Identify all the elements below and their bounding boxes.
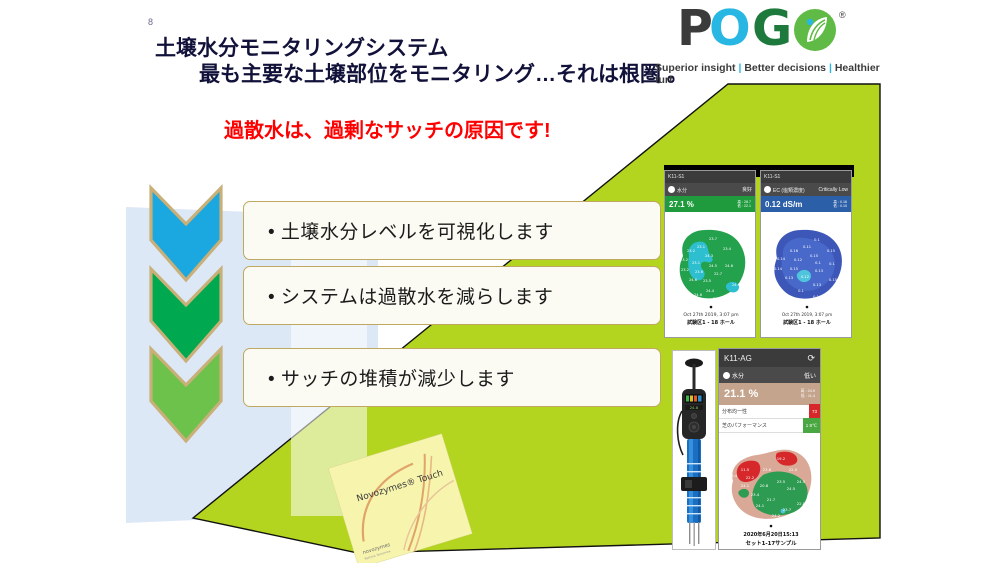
- panel-metric-row-moisture: 水分 良好: [665, 183, 755, 196]
- svg-text:23.2: 23.2: [687, 249, 695, 253]
- station-id-ag: K11-AG: [724, 354, 752, 363]
- svg-text:24.5: 24.5: [709, 264, 717, 268]
- svg-text:23.5: 23.5: [703, 279, 711, 283]
- svg-text:0.1: 0.1: [813, 295, 819, 299]
- novozymes-brochure: Novozymes® Touch novozymes Rethink Tomor…: [318, 430, 488, 563]
- svg-text:24.6: 24.6: [694, 293, 703, 297]
- metric-label-moisture: 水分: [668, 185, 687, 194]
- caption-moisture: 試験区1 - 18 ホール: [687, 319, 735, 326]
- svg-text:24.2: 24.2: [772, 513, 781, 518]
- svg-text:20.8: 20.8: [760, 483, 769, 488]
- timestamp-ec: Oct 27th 2019, 3:07 pm: [782, 312, 832, 317]
- timestamp-moisture: Oct 27th 2019, 3:07 pm: [683, 312, 739, 318]
- svg-text:24.1: 24.1: [741, 483, 750, 488]
- turf-performance-row[interactable]: 芝のパフォーマンス 1 8℃: [719, 419, 820, 433]
- svg-text:23.1: 23.1: [697, 245, 705, 249]
- svg-text:11.5: 11.5: [741, 467, 750, 472]
- uniformity-badge: 73: [809, 404, 820, 419]
- moisture-heatmap: 23.723.123.4 23.224.323.2 23.124.524.6 2…: [665, 212, 756, 328]
- svg-text:0.1: 0.1: [815, 261, 821, 265]
- svg-text:23.7: 23.7: [709, 237, 717, 241]
- svg-text:0.12: 0.12: [801, 275, 809, 279]
- svg-text:22.8: 22.8: [797, 501, 806, 506]
- svg-text:23.1: 23.1: [692, 261, 700, 265]
- logo-letter-p: P: [677, 6, 713, 52]
- ec-heatmap: 0.10.110.16 0.150.150.14 0.120.10.1 0.14…: [761, 212, 852, 328]
- status-badge-ec: Critically Low: [819, 187, 848, 193]
- panel-metric-row-ag: 水分 低い: [719, 367, 820, 383]
- metric-label-ec: EC (塩類濃度): [764, 185, 805, 194]
- svg-text:23.4: 23.4: [723, 247, 732, 251]
- svg-text:24.1: 24.1: [756, 503, 765, 508]
- svg-text:0.14: 0.14: [777, 257, 786, 261]
- bullet-text-2: • システムは過散水を減らします: [244, 282, 553, 309]
- svg-text:0.13: 0.13: [813, 283, 821, 287]
- metric-range-moisture: 高 : 28.7 低 : 22.1: [737, 200, 751, 209]
- page-subtitle: 過散水は、過剰なサッチの原因です!: [224, 114, 551, 143]
- svg-text:23.4: 23.4: [751, 492, 760, 497]
- chevron-arrow-3: [147, 345, 225, 445]
- app-screenshot-ag[interactable]: K11-AG ⟳ 水分 低い 21.1 % 高 : 24.9 低 : 11.4 …: [718, 348, 821, 550]
- page-title-line1: 土壌水分モニタリングシステム: [155, 36, 675, 62]
- svg-text:24.5: 24.5: [797, 479, 806, 484]
- svg-text:19.2: 19.2: [777, 456, 786, 461]
- ag-heatmap: 19.211.513.4 23.622.023.5 24.524.120.8 2…: [719, 433, 821, 549]
- svg-text:22.7: 22.7: [713, 297, 721, 301]
- panel-metric-row-ec: EC (塩類濃度) Critically Low: [761, 183, 851, 196]
- svg-text:0.15: 0.15: [829, 278, 837, 282]
- metric-value-ag: 21.1 %: [724, 388, 758, 400]
- title-block: 土壌水分モニタリングシステム 最も主要な土壌部位をモニタリング…それは根圏 。: [155, 36, 675, 88]
- bullet-box-1: • 土壌水分レベルを可視化します: [243, 201, 661, 260]
- registered-mark: ®: [839, 10, 846, 20]
- station-id-ec: K11-S1: [764, 174, 780, 180]
- svg-text:24.4: 24.4: [706, 289, 715, 293]
- metric-range-ag: 高 : 24.9 低 : 11.4: [801, 389, 815, 399]
- svg-text:0.1: 0.1: [798, 289, 804, 293]
- slide-canvas: 8 土壌水分モニタリングシステム 最も主要な土壌部位をモニタリング…それは根圏 …: [0, 0, 1000, 563]
- svg-text:24.4: 24.4: [732, 283, 741, 287]
- bullet-text-3: • サッチの堆積が減少します: [244, 364, 515, 391]
- svg-text:0.1: 0.1: [814, 238, 820, 242]
- tagline-part-2: Better decisions: [744, 62, 826, 74]
- metric-range-ec: 高 : 0.16 低 : 0.10: [833, 200, 847, 209]
- metric-value-row-moisture: 27.1 % 高 : 28.7 低 : 22.1: [665, 196, 755, 212]
- svg-text:23.7: 23.7: [783, 507, 792, 512]
- water-drop-icon-ag: [723, 372, 730, 379]
- svg-text:22.2: 22.2: [746, 475, 755, 480]
- svg-text:0.16: 0.16: [790, 249, 799, 253]
- svg-text:0.1: 0.1: [829, 262, 835, 266]
- refresh-icon[interactable]: ⟳: [807, 353, 815, 364]
- svg-text:0.13: 0.13: [785, 276, 793, 280]
- svg-text:24.6: 24.6: [725, 264, 734, 268]
- svg-text:24.5: 24.5: [787, 486, 796, 491]
- metric-value-ec: 0.12 dS/m: [765, 200, 802, 209]
- svg-text:23.5: 23.5: [777, 479, 786, 484]
- svg-text:0.15: 0.15: [790, 267, 798, 271]
- bullet-box-2: • システムは過散水を減らします: [243, 266, 661, 325]
- svg-text:24.3: 24.3: [705, 254, 713, 258]
- bullet-text-1: • 土壌水分レベルを可視化します: [244, 217, 554, 244]
- caption-ec: 試験区1 - 18 ホール: [783, 319, 831, 326]
- tagline-part-1: Superior insight: [655, 62, 736, 74]
- metric-label-ag: 水分: [723, 371, 744, 380]
- tagline-separator-1: |: [738, 62, 741, 74]
- app-screenshot-moisture[interactable]: K11-S1 水分 良好 27.1 % 高 : 28.7 低 : 22.1 23…: [664, 170, 756, 338]
- metric-value-row-ec: 0.12 dS/m 高 : 0.16 低 : 0.10: [761, 196, 851, 212]
- turf-performance-badge: 1 8℃: [803, 418, 820, 433]
- svg-text:22.0: 22.0: [789, 467, 798, 472]
- leaf-icon: [803, 16, 829, 44]
- app-screenshot-ec[interactable]: K11-S1 EC (塩類濃度) Critically Low 0.12 dS/…: [760, 170, 852, 338]
- status-badge-moisture: 良好: [742, 186, 752, 193]
- tagline-separator-2: |: [829, 62, 832, 74]
- conductivity-icon: [764, 186, 771, 193]
- soil-probe-photo: 24.8: [672, 350, 716, 550]
- page-title-line2: 最も主要な土壌部位をモニタリング…それは根圏 。: [199, 62, 675, 88]
- svg-text:23.6: 23.6: [763, 467, 772, 472]
- logo-letter-g: G: [752, 6, 792, 52]
- water-drop-icon: [668, 186, 675, 193]
- metric-value-row-ag: 21.1 % 高 : 24.9 低 : 11.4: [719, 383, 820, 405]
- uniformity-row[interactable]: 分布均一性 73: [719, 405, 820, 419]
- logo-letter-o1: O: [709, 6, 751, 52]
- svg-text:0.15: 0.15: [810, 254, 818, 258]
- panel-station-header-moisture: K11-S1: [665, 171, 755, 183]
- svg-text:24.6: 24.6: [689, 278, 698, 282]
- svg-text:0.11: 0.11: [803, 245, 811, 249]
- logo-tagline: Superior insight | Better decisions | He…: [655, 62, 885, 86]
- status-badge-ag: 低い: [804, 371, 816, 380]
- svg-text:0.12: 0.12: [794, 258, 802, 262]
- svg-text:0.15: 0.15: [827, 249, 835, 253]
- turf-performance-label: 芝のパフォーマンス: [722, 422, 767, 429]
- metric-value-moisture: 27.1 %: [669, 200, 694, 209]
- svg-text:0.13: 0.13: [815, 269, 823, 273]
- station-id-moisture: K11-S1: [668, 174, 684, 180]
- svg-text:21.7: 21.7: [767, 497, 776, 502]
- caption-ag: セット1-17サンプル: [745, 539, 797, 547]
- slide-number: 8: [148, 17, 153, 27]
- svg-text:23.2: 23.2: [681, 268, 689, 272]
- svg-text:23.6: 23.6: [695, 270, 704, 274]
- svg-text:23.2: 23.2: [680, 258, 688, 262]
- svg-text:22.7: 22.7: [714, 272, 722, 276]
- svg-text:0.14: 0.14: [774, 267, 783, 271]
- uniformity-label: 分布均一性: [722, 408, 747, 415]
- panel-station-header-ag: K11-AG ⟳: [719, 349, 820, 367]
- svg-text:24.8: 24.8: [690, 406, 698, 410]
- timestamp-ag: 2020年6月20日15:13: [743, 531, 799, 538]
- pogo-logo: P O G ® Superior insight | Better decisi…: [655, 6, 885, 76]
- panel-station-header-ec: K11-S1: [761, 171, 851, 183]
- svg-text:13.4: 13.4: [729, 473, 738, 478]
- bullet-box-3: • サッチの堆積が減少します: [243, 348, 661, 407]
